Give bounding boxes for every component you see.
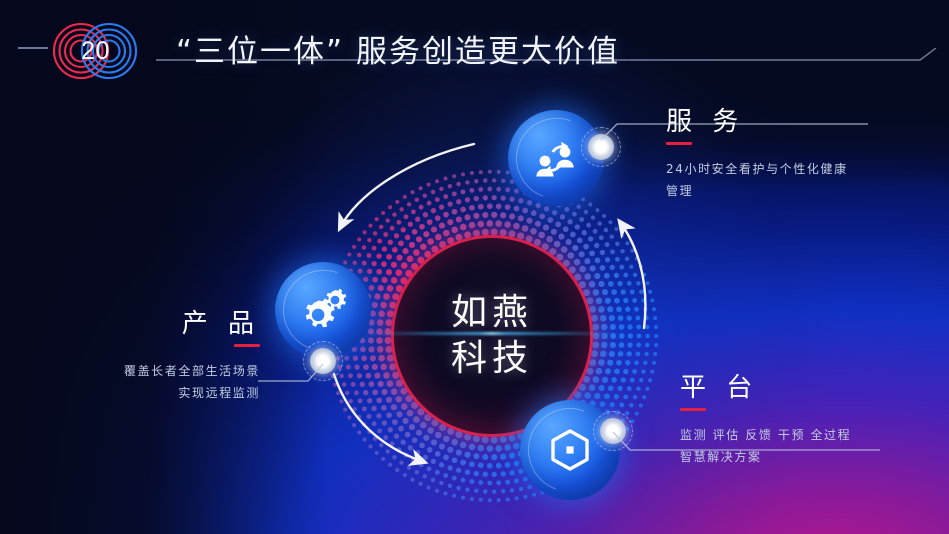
hub-dot xyxy=(600,418,626,444)
hub-dot xyxy=(310,348,336,374)
label-product-underline xyxy=(234,344,260,347)
connector-hub-platform xyxy=(600,418,626,444)
label-product-description: 覆盖长者全部生活场景 实现远程监测 xyxy=(20,360,260,406)
label-platform-desc-line-2: 智慧解决方案 xyxy=(680,450,762,464)
core-brand-line-1: 如燕 xyxy=(451,291,533,335)
slide-canvas: 20 “三位一体” 服务创造更大价值 如燕 科技 xyxy=(0,0,949,534)
label-product-desc-line-1: 覆盖长者全部生活场景 xyxy=(124,364,260,378)
label-service-underline xyxy=(666,142,692,145)
core-brand-line-2: 科技 xyxy=(451,337,533,381)
slide-number-text: 20 xyxy=(38,20,148,82)
label-service-desc-line-1: 24小时安全看护与个性化健康 xyxy=(666,162,848,176)
label-product-desc-line-2: 实现远程监测 xyxy=(178,386,260,400)
label-platform-underline xyxy=(680,408,706,411)
label-platform-desc-line-1: 监测 评估 反馈 干预 全过程 xyxy=(680,428,851,442)
label-service: 服 务 24小时安全看护与个性化健康 管理 xyxy=(666,108,848,203)
label-platform-description: 监测 评估 反馈 干预 全过程 智慧解决方案 xyxy=(680,424,851,470)
slide-number-logo: 20 xyxy=(38,20,148,82)
label-product: 产 品 覆盖长者全部生活场景 实现远程监测 xyxy=(20,310,260,405)
page-title: “三位一体” 服务创造更大价值 xyxy=(176,26,620,71)
label-platform-heading: 平 台 xyxy=(680,374,851,403)
connector-hub-service xyxy=(588,134,614,160)
label-product-heading: 产 品 xyxy=(20,310,260,339)
label-platform: 平 台 监测 评估 反馈 干预 全过程 智慧解决方案 xyxy=(680,374,851,469)
hub-dot xyxy=(588,134,614,160)
connector-hub-product xyxy=(310,348,336,374)
label-service-description: 24小时安全看护与个性化健康 管理 xyxy=(666,158,848,204)
label-service-heading: 服 务 xyxy=(666,108,848,137)
label-service-desc-line-2: 管理 xyxy=(666,184,693,198)
